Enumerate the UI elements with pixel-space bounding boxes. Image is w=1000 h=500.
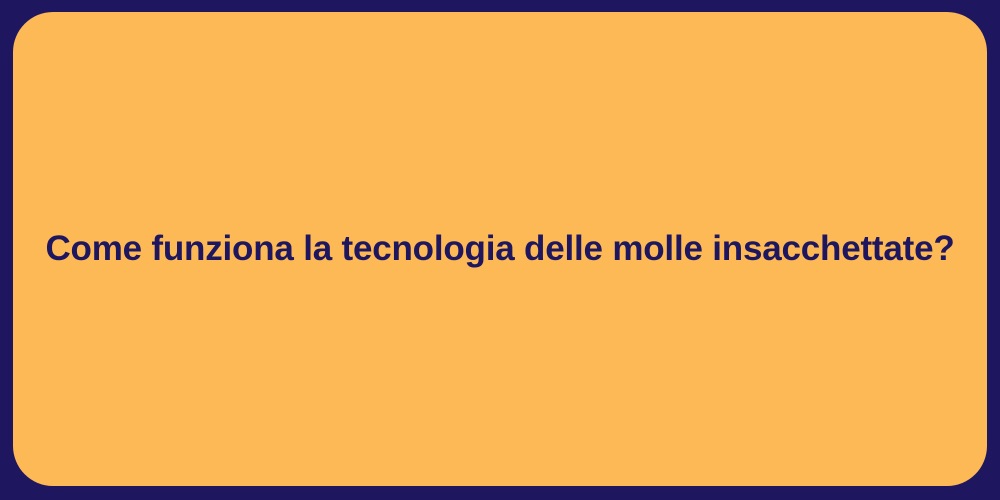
page-title: Come funziona la tecnologia delle molle …	[45, 227, 954, 271]
card-panel: Come funziona la tecnologia delle molle …	[13, 12, 987, 486]
card-frame: Come funziona la tecnologia delle molle …	[0, 0, 1000, 500]
